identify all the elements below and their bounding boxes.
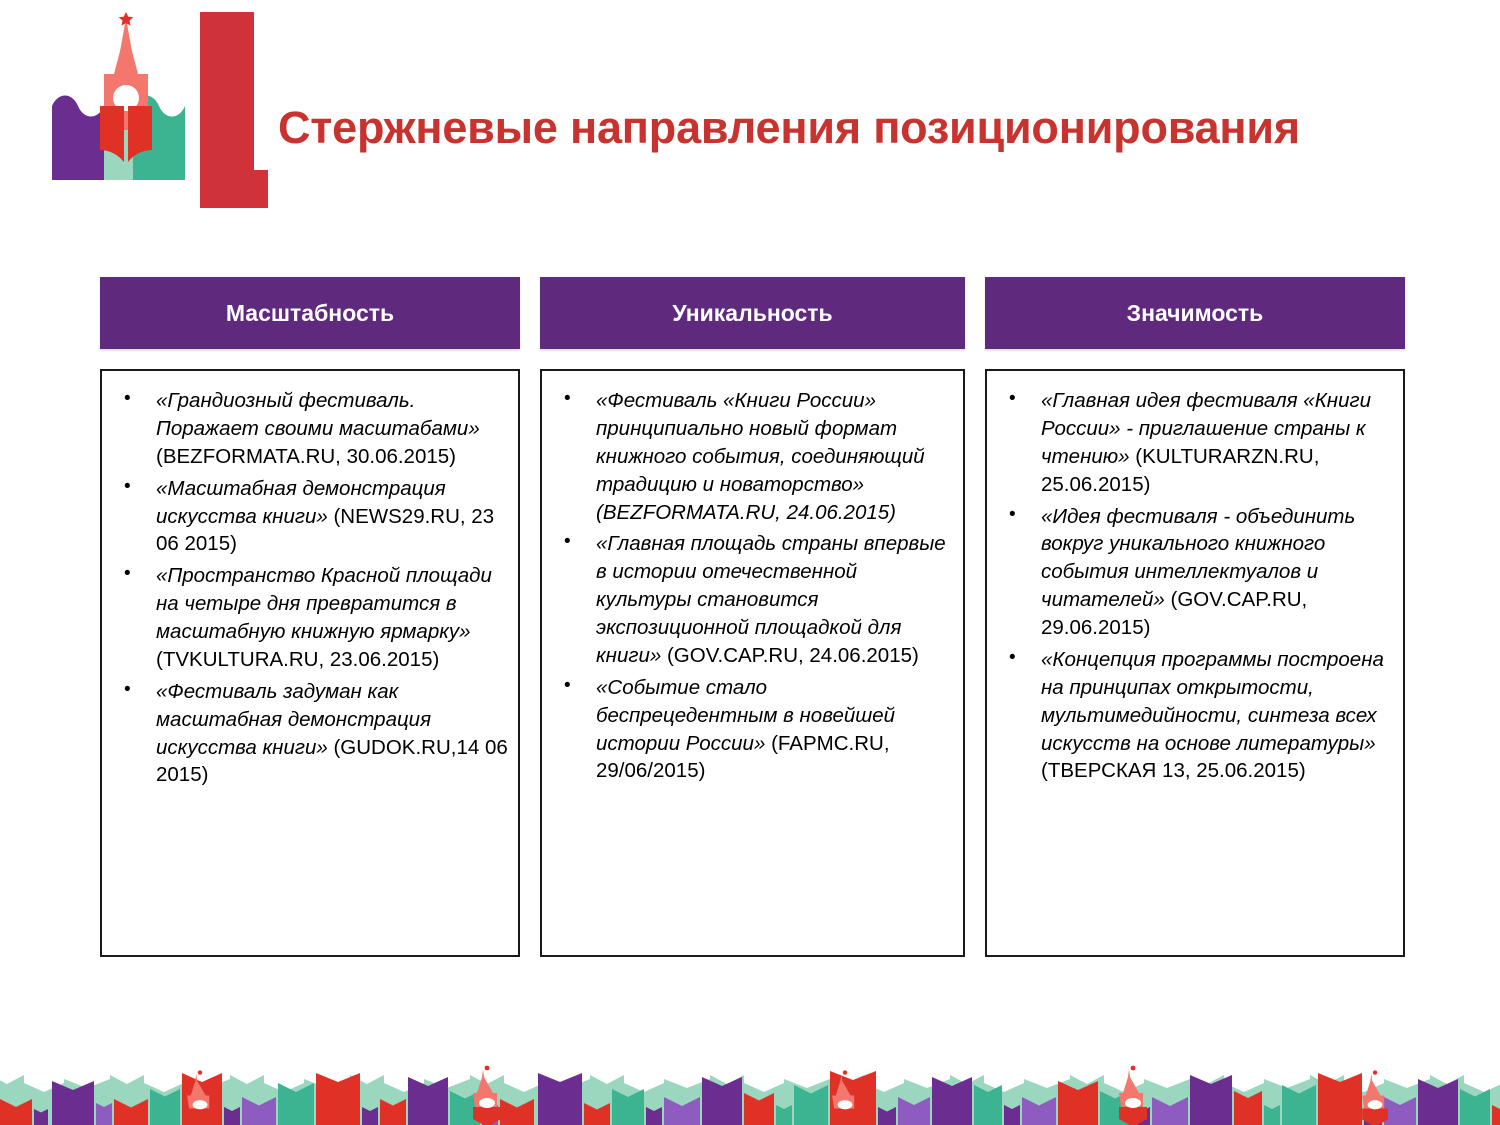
list-item: «Концепция программы построена на принци… xyxy=(995,646,1393,785)
list-item: «Фестиваль задуман как масштабная демонс… xyxy=(110,678,508,790)
list-item: «Главная площадь страны впервые в истори… xyxy=(550,530,953,669)
list-item: «Грандиозный фестиваль. Поражает своими … xyxy=(110,387,508,471)
quote-text: «Пространство Красной площади на четыре … xyxy=(156,564,492,643)
quote-text: «Концепция программы построена на принци… xyxy=(1041,648,1384,755)
quote-text: «Фестиваль «Книги России» принципиально … xyxy=(596,389,925,496)
bullet-list-2: «Фестиваль «Книги России» принципиально … xyxy=(550,387,953,785)
kremlin-tower-book-logo-icon xyxy=(48,8,268,218)
column-unikalnost: Уникальность «Фестиваль «Книги России» п… xyxy=(540,277,965,957)
bullet-list-3: «Главная идея фестиваля «Книги России» -… xyxy=(995,387,1393,785)
quote-text: «Грандиозный фестиваль. Поражает своими … xyxy=(156,389,480,440)
page-title: Стержневые направления позиционирования xyxy=(278,104,1458,153)
source-text: (TVKULTURA.RU, 23.06.2015) xyxy=(156,648,439,671)
column-header-2: Уникальность xyxy=(540,277,965,349)
source-text: (BEZFORMATA.RU, 30.06.2015) xyxy=(156,445,456,468)
list-item: «Масштабная демонстрация искусства книги… xyxy=(110,475,508,559)
book-spine-skyline-band xyxy=(0,1055,1500,1125)
column-masshtabnost: Масштабность «Грандиозный фестиваль. Пор… xyxy=(100,277,520,957)
column-znachimost: Значимость «Главная идея фестиваля «Книг… xyxy=(985,277,1405,957)
skyline-decor-icon xyxy=(0,1055,1500,1125)
list-item: «Идея фестиваля - объединить вокруг уник… xyxy=(995,503,1393,642)
column-header-3: Значимость xyxy=(985,277,1405,349)
list-item: «Главная идея фестиваля «Книги России» -… xyxy=(995,387,1393,499)
list-item: «Событие стало беспрецедентным в новейше… xyxy=(550,674,953,786)
column-body-2: «Фестиваль «Книги России» принципиально … xyxy=(540,369,965,957)
source-text: (BEZFORMATA.RU, 24.06.2015) xyxy=(596,501,896,524)
slide-canvas: Стержневые направления позиционирования … xyxy=(0,0,1500,1125)
list-item: «Пространство Красной площади на четыре … xyxy=(110,562,508,674)
column-body-3: «Главная идея фестиваля «Книги России» -… xyxy=(985,369,1405,957)
column-header-1: Масштабность xyxy=(100,277,520,349)
list-item: «Фестиваль «Книги России» принципиально … xyxy=(550,387,953,526)
source-text: (ТВЕРСКАЯ 13, 25.06.2015) xyxy=(1041,759,1306,782)
source-text: (GOV.CAP.RU, 24.06.2015) xyxy=(667,644,919,667)
positioning-columns: Масштабность «Грандиозный фестиваль. Пор… xyxy=(100,277,1405,957)
column-body-1: «Грандиозный фестиваль. Поражает своими … xyxy=(100,369,520,957)
bullet-list-1: «Грандиозный фестиваль. Поражает своими … xyxy=(110,387,508,789)
brand-logo xyxy=(48,8,268,218)
